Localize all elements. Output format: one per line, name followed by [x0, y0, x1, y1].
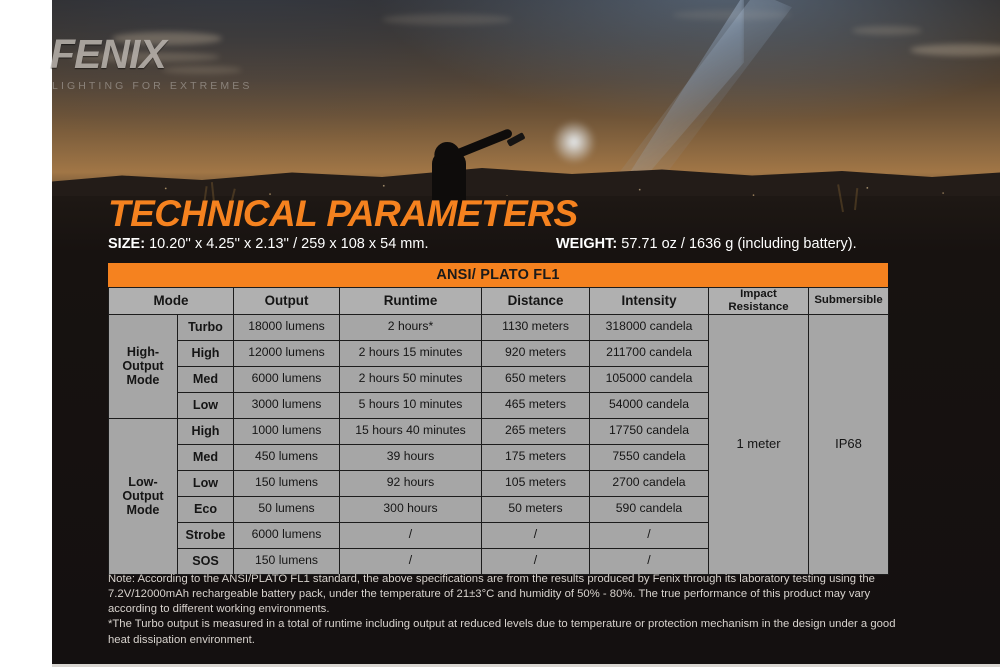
- intensity-cell: 17750 candela: [590, 418, 709, 444]
- runtime-cell: 300 hours: [340, 496, 482, 522]
- intensity-cell: 105000 candela: [590, 366, 709, 392]
- col-header-output: Output: [234, 288, 340, 315]
- table-body: High-OutputModeTurbo18000 lumens2 hours*…: [109, 314, 889, 574]
- mode-name: Strobe: [178, 522, 234, 548]
- col-header-intensity: Intensity: [590, 288, 709, 315]
- footnote-asterisk: *The Turbo output is measured in a total…: [108, 617, 898, 647]
- table-row: High-OutputModeTurbo18000 lumens2 hours*…: [109, 314, 889, 340]
- impact-line-1: Impact: [740, 288, 777, 300]
- flashlight-beam-hotspot: [552, 120, 596, 164]
- distance-cell: 105 meters: [482, 470, 590, 496]
- distance-cell: 465 meters: [482, 392, 590, 418]
- runtime-cell: /: [340, 548, 482, 574]
- footnote-note: Note: According to the ANSI/PLATO FL1 st…: [108, 572, 898, 617]
- size-label: SIZE:: [108, 236, 145, 252]
- col-header-impact-resistance: Impact Resistance: [709, 288, 809, 315]
- mode-group-line-1: High-: [127, 345, 159, 359]
- size-value: 10.20'' x 4.25'' x 2.13'' / 259 x 108 x …: [149, 236, 428, 252]
- weight-value: 57.71 oz / 1636 g (including battery).: [621, 236, 856, 252]
- runtime-cell: 39 hours: [340, 444, 482, 470]
- mode-name: Low: [178, 470, 234, 496]
- output-cell: 150 lumens: [234, 548, 340, 574]
- technical-parameters-page: FENIX LIGHTING FOR EXTREMES TECHNICAL PA…: [0, 0, 1000, 667]
- mode-name: High: [178, 340, 234, 366]
- runtime-cell: /: [340, 522, 482, 548]
- col-header-runtime: Runtime: [340, 288, 482, 315]
- intensity-cell: /: [590, 522, 709, 548]
- mode-name: Med: [178, 444, 234, 470]
- submersible-value: IP68: [809, 314, 889, 574]
- mode-group-label: Low-OutputMode: [109, 418, 178, 574]
- distance-cell: /: [482, 548, 590, 574]
- footnote-block: Note: According to the ANSI/PLATO FL1 st…: [108, 572, 898, 648]
- runtime-cell: 2 hours*: [340, 314, 482, 340]
- mode-group-line-1: Low-: [128, 475, 157, 489]
- page-title: TECHNICAL PARAMETERS: [108, 195, 578, 232]
- col-header-mode: Mode: [109, 288, 234, 315]
- distance-cell: /: [482, 522, 590, 548]
- logo-tagline: LIGHTING FOR EXTREMES: [52, 80, 252, 92]
- intensity-cell: 211700 candela: [590, 340, 709, 366]
- runtime-cell: 5 hours 10 minutes: [340, 392, 482, 418]
- fenix-logo: FENIX LIGHTING FOR EXTREMES: [50, 34, 252, 92]
- col-header-submersible: Submersible: [809, 288, 889, 315]
- mode-name: SOS: [178, 548, 234, 574]
- distance-cell: 920 meters: [482, 340, 590, 366]
- mode-name: High: [178, 418, 234, 444]
- col-header-distance: Distance: [482, 288, 590, 315]
- intensity-cell: 590 candela: [590, 496, 709, 522]
- output-cell: 50 lumens: [234, 496, 340, 522]
- runtime-cell: 15 hours 40 minutes: [340, 418, 482, 444]
- output-cell: 150 lumens: [234, 470, 340, 496]
- output-cell: 6000 lumens: [234, 522, 340, 548]
- intensity-cell: /: [590, 548, 709, 574]
- runtime-cell: 92 hours: [340, 470, 482, 496]
- specs-table-wrapper: ANSI/ PLATO FL1 Mode Output Runtime Dist…: [108, 263, 888, 575]
- table-header: Mode Output Runtime Distance Intensity I…: [109, 288, 889, 315]
- runtime-cell: 2 hours 50 minutes: [340, 366, 482, 392]
- size-spec: SIZE: 10.20'' x 4.25'' x 2.13'' / 259 x …: [108, 236, 428, 252]
- mode-group-line-2: Output: [122, 359, 163, 373]
- intensity-cell: 318000 candela: [590, 314, 709, 340]
- mode-group-line-3: Mode: [127, 373, 160, 387]
- specs-table: Mode Output Runtime Distance Intensity I…: [108, 287, 889, 575]
- runtime-cell: 2 hours 15 minutes: [340, 340, 482, 366]
- mode-name: Turbo: [178, 314, 234, 340]
- distance-cell: 50 meters: [482, 496, 590, 522]
- logo-wordmark: FENIX: [50, 34, 252, 75]
- mode-group-line-3: Mode: [127, 503, 160, 517]
- distance-cell: 265 meters: [482, 418, 590, 444]
- mode-name: Eco: [178, 496, 234, 522]
- distance-cell: 650 meters: [482, 366, 590, 392]
- output-cell: 6000 lumens: [234, 366, 340, 392]
- distance-cell: 175 meters: [482, 444, 590, 470]
- intensity-cell: 54000 candela: [590, 392, 709, 418]
- distance-cell: 1130 meters: [482, 314, 590, 340]
- output-cell: 450 lumens: [234, 444, 340, 470]
- ansi-plato-banner: ANSI/ PLATO FL1: [108, 263, 888, 287]
- mode-name: Med: [178, 366, 234, 392]
- header-row: Mode Output Runtime Distance Intensity I…: [109, 288, 889, 315]
- output-cell: 12000 lumens: [234, 340, 340, 366]
- output-cell: 1000 lumens: [234, 418, 340, 444]
- intensity-cell: 7550 candela: [590, 444, 709, 470]
- cloud-icon: [852, 26, 922, 35]
- weight-label: WEIGHT:: [556, 236, 617, 252]
- output-cell: 18000 lumens: [234, 314, 340, 340]
- mode-group-label: High-OutputMode: [109, 314, 178, 418]
- weight-spec: WEIGHT: 57.71 oz / 1636 g (including bat…: [556, 236, 857, 252]
- cloud-icon: [382, 14, 512, 25]
- intensity-cell: 2700 candela: [590, 470, 709, 496]
- mode-name: Low: [178, 392, 234, 418]
- impact-resistance-value: 1 meter: [709, 314, 809, 574]
- output-cell: 3000 lumens: [234, 392, 340, 418]
- impact-line-2: Resistance: [728, 301, 788, 313]
- mode-group-line-2: Output: [122, 489, 163, 503]
